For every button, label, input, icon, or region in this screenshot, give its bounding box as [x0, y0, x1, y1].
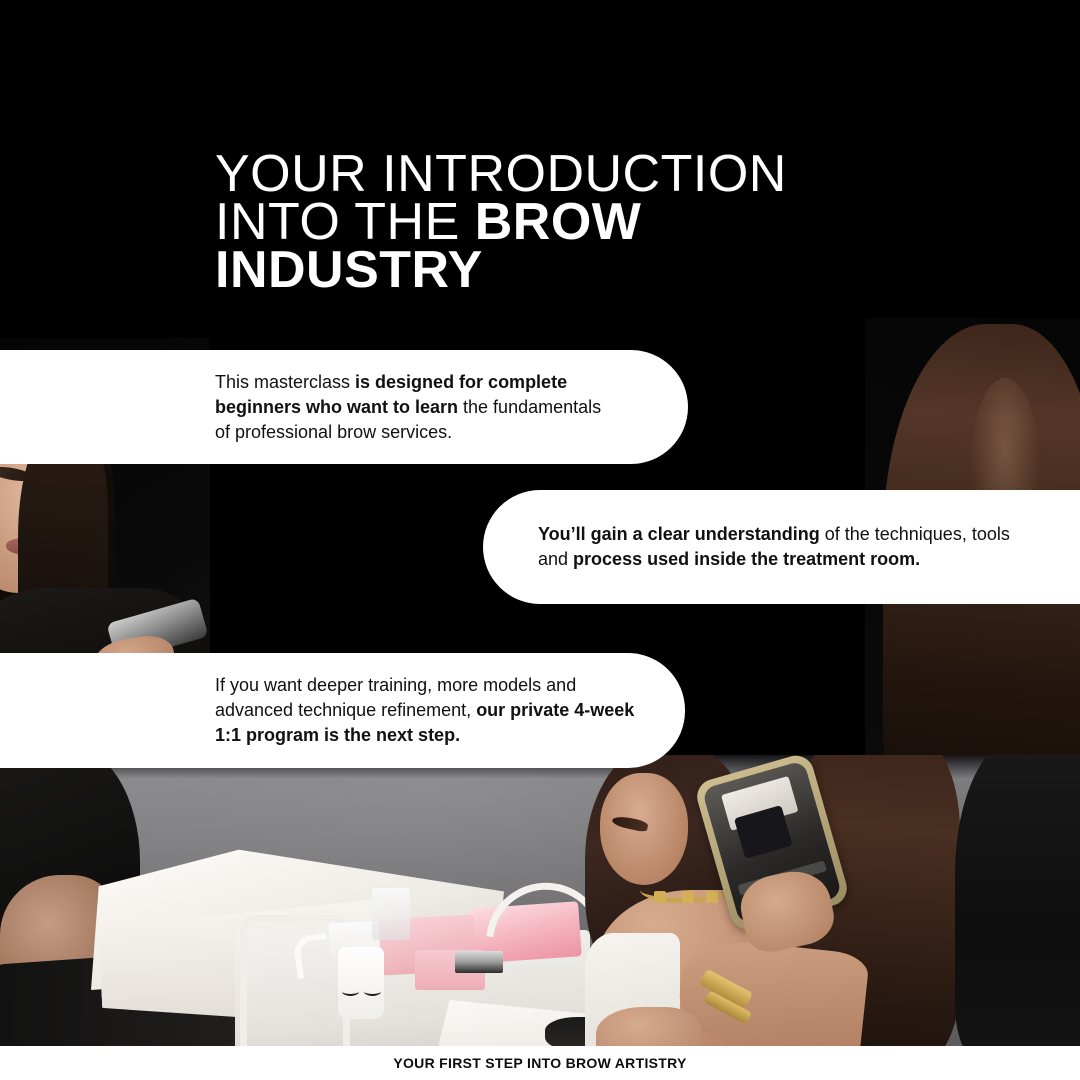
slide-canvas: YOUR INTRODUCTION INTO THE BROW INDUSTRY…: [0, 0, 1080, 1080]
headline-line-3-bold: INDUSTRY: [215, 241, 483, 299]
info-card-1: This masterclass is designed for complet…: [0, 350, 688, 464]
photo-bottom-artist-arm: [675, 936, 870, 1046]
info-card-1-text: This masterclass is designed for complet…: [215, 370, 618, 445]
info-card-2: You’ll gain a clear understanding of the…: [483, 490, 1080, 604]
info-card-3-text: If you want deeper training, more models…: [215, 673, 645, 748]
card-1-seg-0: This masterclass: [215, 372, 355, 392]
photo-bottom-lash-bottle: [338, 947, 384, 1019]
photo-bottom-observer-sleeve: [955, 755, 1080, 1046]
card-2-seg-0: You’ll gain a clear understanding: [538, 524, 820, 544]
photo-bottom-metal-tool: [455, 951, 503, 973]
card-2-seg-2: process used inside the treatment room.: [573, 549, 920, 569]
photo-bottom-gooseneck-tube: [292, 933, 332, 979]
page-title: YOUR INTRODUCTION INTO THE BROW INDUSTRY: [215, 150, 835, 294]
photo-bottom-artist-necklace: [640, 877, 726, 903]
info-card-2-text: You’ll gain a clear understanding of the…: [538, 522, 1020, 572]
photo-bottom-salon-scene: [0, 755, 1080, 1046]
footer-bar: YOUR FIRST STEP INTO BROW ARTISTRY: [0, 1046, 1080, 1080]
photo-bottom-bottle-lash-right-icon: [364, 987, 381, 996]
photo-bottom-clear-bottle: [372, 888, 410, 940]
photo-bottom-artist-hand: [596, 1007, 701, 1046]
info-card-3: If you want deeper training, more models…: [0, 653, 685, 768]
photo-bottom-bottle-lash-left-icon: [342, 987, 359, 996]
footer-label: YOUR FIRST STEP INTO BROW ARTISTRY: [393, 1055, 686, 1071]
headline-line-2-bold: BROW: [475, 193, 642, 251]
